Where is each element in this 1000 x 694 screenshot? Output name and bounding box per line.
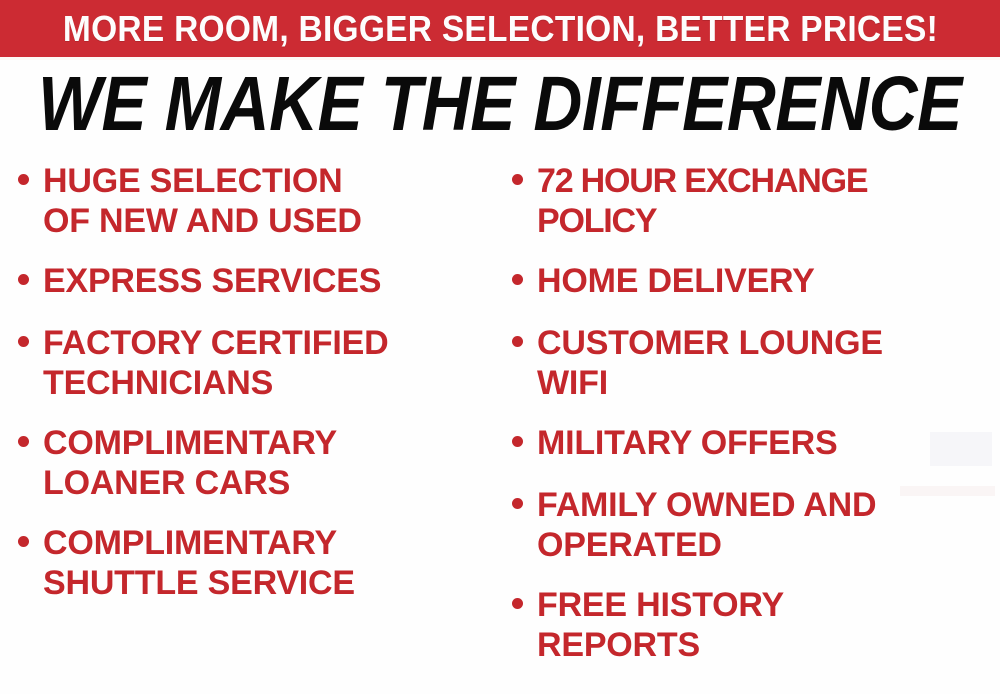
list-item-label: FACTORY CERTIFIED TECHNICIANS	[43, 323, 498, 403]
list-item: FACTORY CERTIFIED TECHNICIANS	[18, 323, 498, 403]
bullet-dot-icon	[18, 536, 29, 547]
bullet-dot-icon	[512, 598, 523, 609]
list-item: HUGE SELECTION OF NEW AND USED	[18, 161, 498, 241]
list-item-label: CUSTOMER LOUNGE WIFI	[537, 323, 992, 403]
list-item-label: COMPLIMENTARY SHUTTLE SERVICE	[43, 523, 498, 603]
bullet-dot-icon	[18, 436, 29, 447]
top-banner-text: MORE ROOM, BIGGER SELECTION, BETTER PRIC…	[62, 11, 937, 47]
list-item-label: 72 HOUR EXCHANGE POLICY	[537, 161, 992, 241]
list-item: COMPLIMENTARY SHUTTLE SERVICE	[18, 523, 498, 603]
page-title: WE MAKE THE DIFFERENCE	[38, 65, 962, 143]
list-item: MILITARY OFFERS	[512, 423, 992, 463]
scan-artifact	[0, 57, 1000, 60]
list-item: FAMILY OWNED AND OPERATED	[512, 485, 992, 565]
bullet-dot-icon	[18, 274, 29, 285]
bullet-dot-icon	[512, 498, 523, 509]
list-item: COMPLIMENTARY LOANER CARS	[18, 423, 498, 503]
list-item: EXPRESS SERVICES	[18, 261, 498, 301]
bullet-dot-icon	[18, 336, 29, 347]
benefits-column-left: HUGE SELECTION OF NEW AND USED EXPRESS S…	[18, 155, 498, 694]
list-item-label: FREE HISTORY REPORTS	[537, 585, 992, 665]
list-item-label: HUGE SELECTION OF NEW AND USED	[43, 161, 498, 241]
bullet-dot-icon	[18, 174, 29, 185]
list-item: 72 HOUR EXCHANGE POLICY	[512, 161, 992, 241]
list-item-label: HOME DELIVERY	[537, 261, 992, 301]
list-item-label: FAMILY OWNED AND OPERATED	[537, 485, 992, 565]
benefits-columns: HUGE SELECTION OF NEW AND USED EXPRESS S…	[0, 155, 1000, 694]
bullet-dot-icon	[512, 274, 523, 285]
list-item-label: COMPLIMENTARY LOANER CARS	[43, 423, 498, 503]
benefits-column-right: 72 HOUR EXCHANGE POLICY HOME DELIVERY CU…	[512, 155, 992, 694]
list-item: CUSTOMER LOUNGE WIFI	[512, 323, 992, 403]
top-banner: MORE ROOM, BIGGER SELECTION, BETTER PRIC…	[0, 0, 1000, 57]
headline-area: WE MAKE THE DIFFERENCE	[0, 62, 1000, 146]
list-item: FREE HISTORY REPORTS	[512, 585, 992, 665]
list-item-label: EXPRESS SERVICES	[43, 261, 498, 301]
list-item-label: MILITARY OFFERS	[537, 423, 992, 463]
promo-poster: MORE ROOM, BIGGER SELECTION, BETTER PRIC…	[0, 0, 1000, 694]
bullet-dot-icon	[512, 336, 523, 347]
list-item: HOME DELIVERY	[512, 261, 992, 301]
bullet-dot-icon	[512, 174, 523, 185]
bullet-dot-icon	[512, 436, 523, 447]
